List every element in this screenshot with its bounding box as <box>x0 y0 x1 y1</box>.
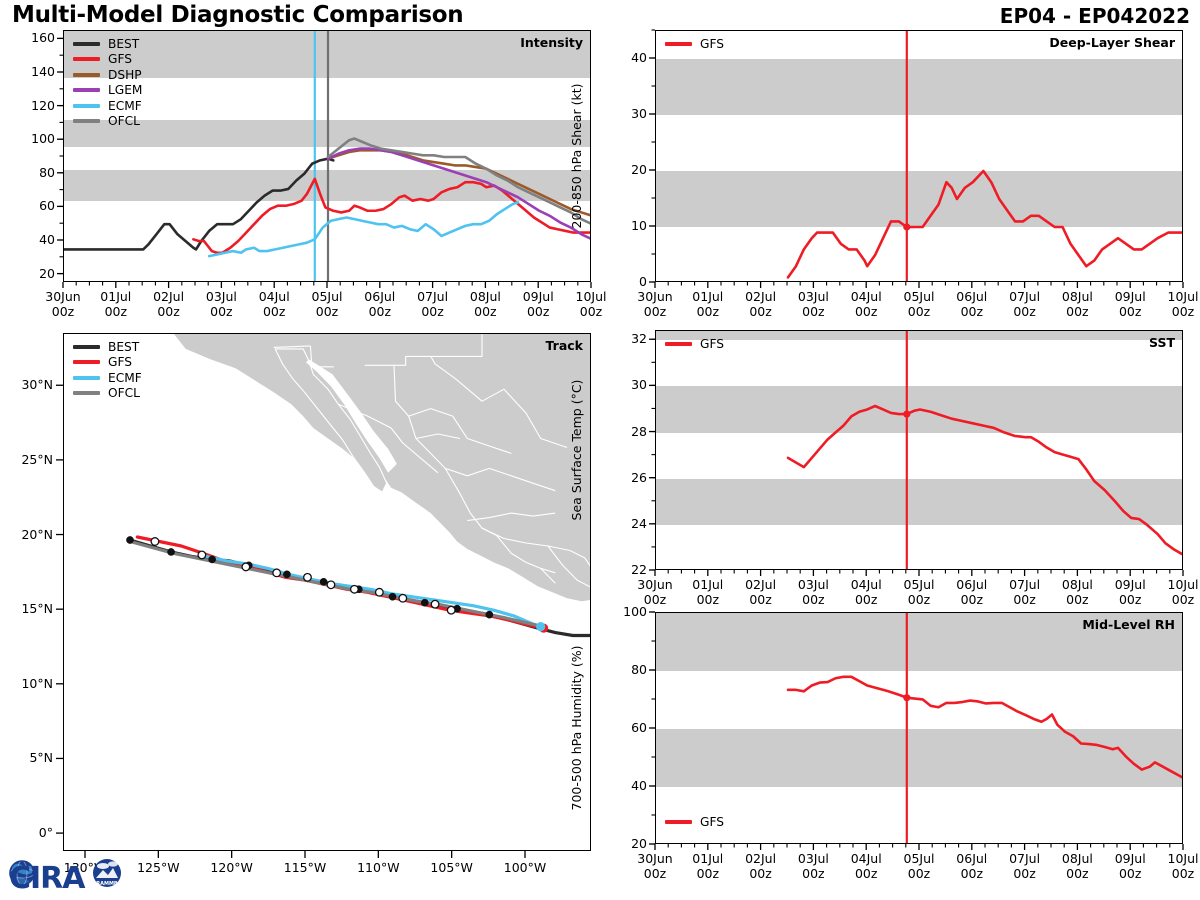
legend-label: GFS <box>108 53 132 65</box>
rh-analysis-marker <box>903 694 910 701</box>
svg-text:CIRA: CIRA <box>9 861 86 896</box>
legend-swatch-gfs <box>73 360 100 364</box>
intensity-panel-title: Intensity <box>520 35 583 50</box>
legend-item-gfs[interactable]: GFS <box>665 336 724 352</box>
rh-xtick-label: 10Jul00z <box>1148 852 1200 882</box>
rh-plot-frame: Mid-Level RH <box>655 612 1183 844</box>
legend-label: DSHP <box>108 69 142 81</box>
legend-label: BEST <box>108 341 139 353</box>
legend-label: GFS <box>108 356 132 368</box>
legend-label: LGEM <box>108 84 142 96</box>
track-panel-title: Track <box>546 338 583 353</box>
rh-ytick-label: 40 <box>595 778 647 793</box>
legend-swatch-gfs <box>73 57 100 61</box>
legend-item-ofcl[interactable]: OFCL <box>73 114 142 130</box>
rh-ytick-label: 80 <box>595 662 647 677</box>
legend-swatch-ofcl <box>73 119 100 123</box>
legend-item-ofcl[interactable]: OFCL <box>73 386 142 402</box>
legend-swatch-ecmf <box>73 376 100 380</box>
rh-curves <box>656 613 1183 844</box>
shear-legend: GFS <box>665 36 724 52</box>
legend-item-lgem[interactable]: LGEM <box>73 83 142 99</box>
legend-swatch-gfs <box>665 342 692 346</box>
rh-y-axis-label: 700-500 hPa Humidity (%) <box>569 645 584 810</box>
legend-item-best[interactable]: BEST <box>73 339 142 355</box>
intensity-legend: BESTGFSDSHPLGEMECMFOFCL <box>73 36 142 129</box>
track-legend: BESTGFSECMFOFCL <box>73 339 142 401</box>
rh-ytick-label: 100 <box>595 604 647 619</box>
legend-swatch-lgem <box>73 88 100 92</box>
legend-label: ECMF <box>108 372 142 384</box>
legend-swatch-dshp <box>73 73 100 77</box>
legend-swatch-gfs <box>665 820 692 824</box>
rh-series-gfs <box>788 677 1183 779</box>
legend-swatch-best <box>73 42 100 46</box>
legend-label: ECMF <box>108 100 142 112</box>
legend-swatch-gfs <box>665 42 692 46</box>
legend-item-ecmf[interactable]: ECMF <box>73 370 142 386</box>
sst-panel-title: SST <box>1149 335 1175 350</box>
legend-label: OFCL <box>108 115 140 127</box>
legend-swatch-ecmf <box>73 104 100 108</box>
legend-item-gfs[interactable]: GFS <box>665 36 724 52</box>
legend-item-gfs[interactable]: GFS <box>665 814 724 830</box>
legend-item-gfs[interactable]: GFS <box>73 52 142 68</box>
rh-legend: GFS <box>665 814 724 830</box>
legend-label: BEST <box>108 38 139 50</box>
legend-label: OFCL <box>108 387 140 399</box>
legend-item-best[interactable]: BEST <box>73 36 142 52</box>
panel-rh: Mid-Level RHGFS20406080100700-500 hPa Hu… <box>0 0 1200 900</box>
shear-panel-title: Deep-Layer Shear <box>1049 35 1175 50</box>
legend-label: GFS <box>700 338 724 350</box>
cira-logo: CIRA RAMMB <box>8 848 126 894</box>
legend-item-dshp[interactable]: DSHP <box>73 67 142 83</box>
legend-item-ecmf[interactable]: ECMF <box>73 98 142 114</box>
rh-panel-title: Mid-Level RH <box>1082 617 1175 632</box>
legend-swatch-best <box>73 345 100 349</box>
legend-swatch-ofcl <box>73 391 100 395</box>
rh-ytick-label: 20 <box>595 836 647 851</box>
sst-legend: GFS <box>665 336 724 352</box>
legend-item-gfs[interactable]: GFS <box>73 355 142 371</box>
rh-ytick-label: 60 <box>595 720 647 735</box>
legend-label: GFS <box>700 38 724 50</box>
svg-text:RAMMB: RAMMB <box>96 881 118 887</box>
legend-label: GFS <box>700 816 724 828</box>
